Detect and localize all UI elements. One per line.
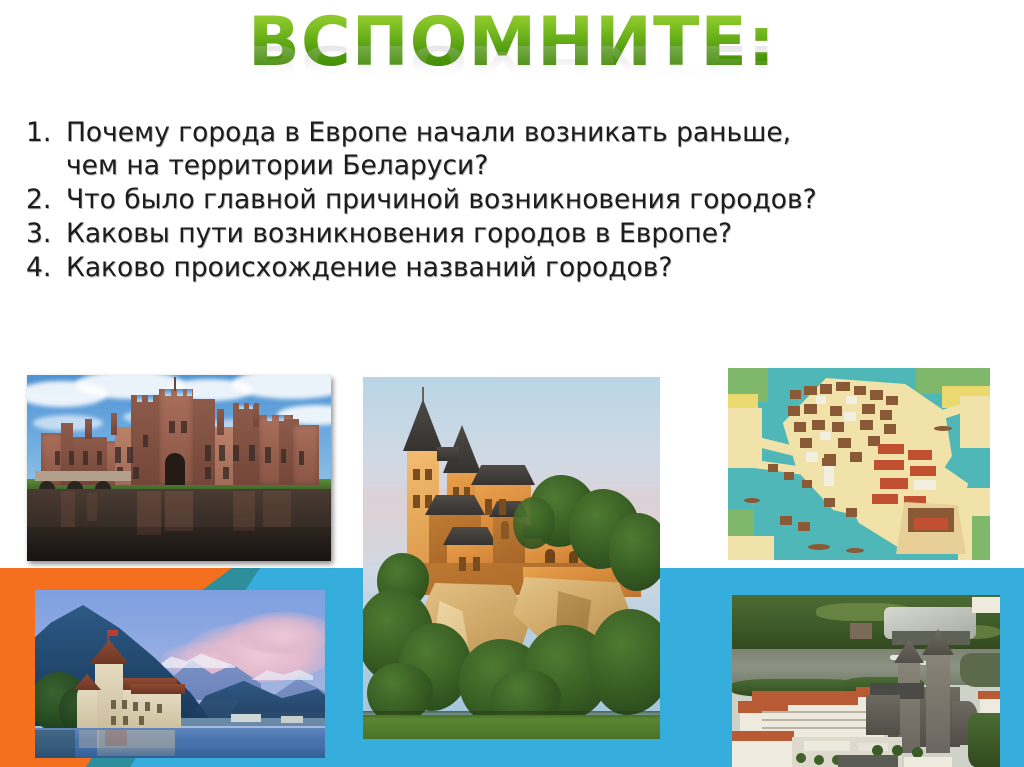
- list-item-label: Почему города в Европе начали возникать …: [66, 116, 1006, 182]
- image-hilltop-church-on-cliff: [363, 377, 660, 739]
- list-item-label: Что было главной причиной возникновения …: [66, 183, 1006, 216]
- image-brick-moated-castle: [27, 375, 331, 561]
- list-item: 1. Почему города в Европе начали возника…: [26, 116, 1006, 182]
- image-lake-castle-mountains: [35, 590, 325, 758]
- slide-title-block: ВСПОМНИТЕ: ВСПОМНИТЕ: ВСПОМНИТЕ:: [0, 4, 1024, 82]
- list-item: 4. Каково происхождение названий городов…: [26, 251, 1006, 284]
- list-item-number: 1.: [26, 116, 66, 149]
- page-title-reflection: ВСПОМНИТЕ:: [0, 36, 1024, 84]
- page-title-shadow: ВСПОМНИТЕ:: [2, 6, 1024, 84]
- page-title: ВСПОМНИТЕ:: [248, 4, 776, 82]
- list-item: 3. Каковы пути возникновения городов в Е…: [26, 217, 1006, 250]
- list-item-number: 3.: [26, 217, 66, 250]
- list-item-label: Каково происхождение названий городов?: [66, 251, 1006, 284]
- slide-canvas: ВСПОМНИТЕ: ВСПОМНИТЕ: ВСПОМНИТЕ: 1. Поче…: [0, 0, 1024, 767]
- list-item-label: Каковы пути возникновения городов в Евро…: [66, 217, 1006, 250]
- image-aerial-cathedral-city: [732, 595, 1000, 767]
- question-list: 1. Почему города в Европе начали возника…: [26, 116, 1006, 285]
- list-item-number: 2.: [26, 183, 66, 216]
- list-item: 2. Что было главной причиной возникновен…: [26, 183, 1006, 216]
- image-medieval-town-map: [728, 368, 990, 560]
- list-item-number: 4.: [26, 251, 66, 284]
